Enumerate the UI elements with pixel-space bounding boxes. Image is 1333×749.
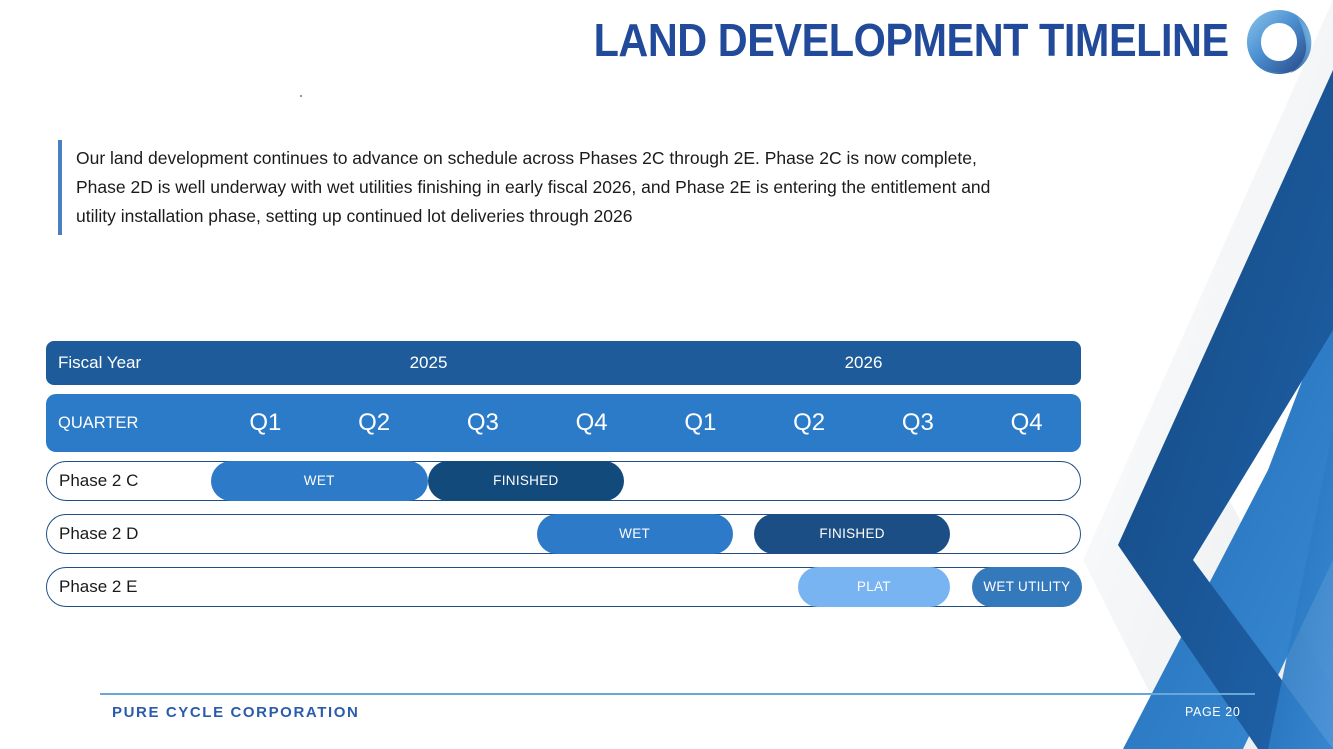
phase-rows: Phase 2 CWETFINISHEDPhase 2 DWETFINISHED… — [46, 461, 1081, 607]
quarter-cell-5: Q1 — [646, 394, 755, 452]
land-development-timeline: Fiscal Year 2025 2026 QUARTER Q1Q2Q3Q4Q1… — [46, 341, 1081, 620]
quarter-cell-6: Q2 — [755, 394, 864, 452]
year-cell-2025: 2025 — [211, 341, 646, 385]
fiscal-year-row: Fiscal Year 2025 2026 — [46, 341, 1081, 385]
water-swirl-logo-icon — [1241, 6, 1317, 78]
phase-row: Phase 2 EPLATWET UTILITY — [46, 567, 1081, 607]
callout-text: Our land development continues to advanc… — [76, 144, 1018, 231]
quarter-cell-4: Q4 — [537, 394, 646, 452]
footer-divider — [100, 693, 1255, 695]
phase-bar-wet[interactable]: WET — [537, 514, 733, 554]
quarter-cell-8: Q4 — [972, 394, 1081, 452]
stray-dot-artifact — [300, 95, 302, 97]
quarter-label: QUARTER — [58, 394, 138, 452]
quarter-cell-7: Q3 — [864, 394, 973, 452]
quarter-row: QUARTER Q1Q2Q3Q4Q1Q2Q3Q4 — [46, 394, 1081, 452]
quarter-cell-3: Q3 — [429, 394, 538, 452]
phase-label: Phase 2 D — [59, 515, 138, 553]
phase-bar-wet-utility[interactable]: WET UTILITY — [972, 567, 1082, 607]
quarter-cell-2: Q2 — [320, 394, 429, 452]
phase-bar-plat[interactable]: PLAT — [798, 567, 950, 607]
corner-chevron-graphic — [1083, 0, 1333, 749]
phase-bar-finished[interactable]: FINISHED — [428, 461, 624, 501]
phase-label: Phase 2 E — [59, 568, 137, 606]
callout-block: Our land development continues to advanc… — [58, 140, 1018, 235]
phase-bar-wet[interactable]: WET — [211, 461, 429, 501]
phase-row: Phase 2 CWETFINISHED — [46, 461, 1081, 501]
page-title: LAND DEVELOPMENT TIMELINE — [594, 12, 1229, 68]
footer-page-number: PAGE 20 — [1185, 705, 1240, 719]
slide-header: LAND DEVELOPMENT TIMELINE — [0, 0, 1333, 84]
year-cell-2026: 2026 — [646, 341, 1081, 385]
phase-row: Phase 2 DWETFINISHED — [46, 514, 1081, 554]
footer-company-name: PURE CYCLE CORPORATION — [112, 704, 359, 721]
phase-label: Phase 2 C — [59, 462, 138, 500]
quarter-cell-1: Q1 — [211, 394, 320, 452]
fiscal-year-label: Fiscal Year — [58, 341, 141, 385]
phase-bar-finished[interactable]: FINISHED — [754, 514, 950, 554]
